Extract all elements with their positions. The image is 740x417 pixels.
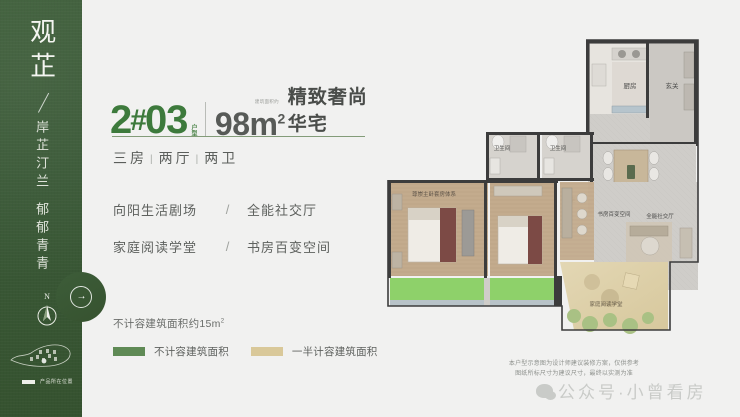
plan-room-label-study: 书房百变空间 xyxy=(597,210,630,218)
unit-area-block: 建筑面积约 98m2 精致奢尚华宅 xyxy=(215,82,380,139)
legend-swatch-half-counted xyxy=(251,347,283,356)
watermark: 公众号·小曾看房 xyxy=(536,378,707,403)
feature-row: 向阳生活剧场 / 全能社交厅 xyxy=(113,200,331,219)
plan-zone-bathrooms: 卫生间 卫生间 xyxy=(486,132,594,182)
uncounted-area-text: 不计容建筑面积约15m xyxy=(113,318,221,330)
brand-title: 观芷 xyxy=(27,18,54,86)
unit-code-number: 03 xyxy=(145,102,188,139)
area-legend: 不计容建筑面积 一半计容建筑面积 xyxy=(113,344,400,359)
unit-plan-slide: 观芷 岸芷汀兰 郁郁青青 N xyxy=(0,0,740,417)
unit-area-superscript: 2 xyxy=(277,110,284,126)
unit-tagline: 精致奢尚华宅 xyxy=(288,82,380,136)
unit-code: 2 # 03 户型 xyxy=(110,102,196,139)
next-slide-button[interactable]: → xyxy=(56,272,106,322)
plan-room-label-kitchen: 厨房 xyxy=(624,81,637,90)
feature-right-label: 全能社交厅 xyxy=(247,200,317,219)
brand-sidebar: 观芷 岸芷汀兰 郁郁青青 N xyxy=(0,0,82,417)
unit-area-value: 建筑面积约 98m2 xyxy=(215,109,285,139)
site-map-legend-swatch xyxy=(22,380,35,384)
site-map-icon xyxy=(8,336,74,372)
arrow-right-icon: → xyxy=(70,286,92,308)
feature-slash: / xyxy=(209,239,247,254)
room-type-separator-2: | xyxy=(196,154,202,165)
feature-left-label: 向阳生活剧场 xyxy=(113,200,209,219)
plan-zone-garden-terrace: 家庭阅读学堂 xyxy=(560,262,668,334)
feature-slash: / xyxy=(209,202,247,217)
room-type-summary: 三房|两厅|两卫 xyxy=(113,148,238,168)
plan-disclaimer: 本户型示意图为设计师建议装修方案，仅供参考 图纸所标尺寸为建议尺寸，最终以实测为… xyxy=(484,360,664,380)
feature-left-label: 家庭阅读学堂 xyxy=(113,237,209,256)
title-underline-rule xyxy=(112,136,365,137)
plan-room-label-bathroom-1: 卫生间 xyxy=(494,144,511,152)
plan-room-label-reading-terrace: 家庭阅读学堂 xyxy=(589,300,623,308)
watermark-text: 公众号·小曾看房 xyxy=(558,378,707,403)
legend-label-half-counted: 一半计容建筑面积 xyxy=(292,344,378,359)
unit-code-building: 2 xyxy=(110,102,131,139)
feature-row: 家庭阅读学堂 / 书房百变空间 xyxy=(113,237,331,256)
arrow-right-glyph: → xyxy=(77,292,87,302)
site-map-legend-label: 产品所在位置 xyxy=(40,378,73,385)
brand-subtitle-1: 岸芷汀兰 xyxy=(34,120,48,192)
unit-area-note: 建筑面积约 xyxy=(255,100,279,104)
plan-disclaimer-line-1: 本户型示意图为设计师建议装修方案，仅供参考 xyxy=(484,360,664,370)
brand-divider-slash xyxy=(38,93,50,113)
unit-code-hash: # xyxy=(130,107,146,135)
feature-list: 向阳生活剧场 / 全能社交厅 家庭阅读学堂 / 书房百变空间 xyxy=(113,200,331,274)
uncounted-area-superscript: 2 xyxy=(221,319,225,325)
plan-zone-kitchen-entry: 厨房 玄关 xyxy=(586,40,698,146)
legend-swatch-uncounted xyxy=(113,347,145,356)
plan-room-label-social-hall: 全能社交厅 xyxy=(646,212,674,220)
plan-room-label-entry: 玄关 xyxy=(666,81,680,90)
plan-zone-master-bedroom: 尊崇主卧套房体系 xyxy=(388,180,490,278)
plan-zone-balcony-green xyxy=(390,276,562,306)
floor-plan-drawing: 厨房 玄关 餐厅 xyxy=(378,30,708,360)
legend-item-uncounted: 不计容建筑面积 xyxy=(113,344,229,359)
legend-label-uncounted: 不计容建筑面积 xyxy=(154,344,229,359)
wechat-icon xyxy=(536,384,553,398)
room-type-bedrooms: 三房 xyxy=(113,150,147,166)
uncounted-area-note: 不计容建筑面积约15m2 xyxy=(113,316,224,331)
unit-code-suffix-label: 户型 xyxy=(189,124,196,136)
plan-room-label-master-suite: 尊崇主卧套房体系 xyxy=(412,190,457,198)
room-type-separator-1: | xyxy=(150,154,156,165)
brand-subtitle-2: 郁郁青青 xyxy=(34,202,48,274)
brand-block: 观芷 岸芷汀兰 郁郁青青 xyxy=(0,18,82,274)
title-divider xyxy=(205,102,206,136)
room-type-livings: 两厅 xyxy=(159,150,193,166)
site-map-legend: 产品所在位置 xyxy=(22,378,73,385)
unit-info-panel: 2 # 03 户型 建筑面积约 98m2 精致奢尚华宅 三房|两厅|两卫 向阳生… xyxy=(110,0,380,417)
room-type-baths: 两卫 xyxy=(204,150,238,166)
legend-item-half-counted: 一半计容建筑面积 xyxy=(251,344,378,359)
unit-title-row: 2 # 03 户型 建筑面积约 98m2 精致奢尚华宅 xyxy=(110,82,380,139)
feature-right-label: 书房百变空间 xyxy=(247,237,331,256)
plan-room-label-bathroom-2: 卫生间 xyxy=(550,144,567,152)
